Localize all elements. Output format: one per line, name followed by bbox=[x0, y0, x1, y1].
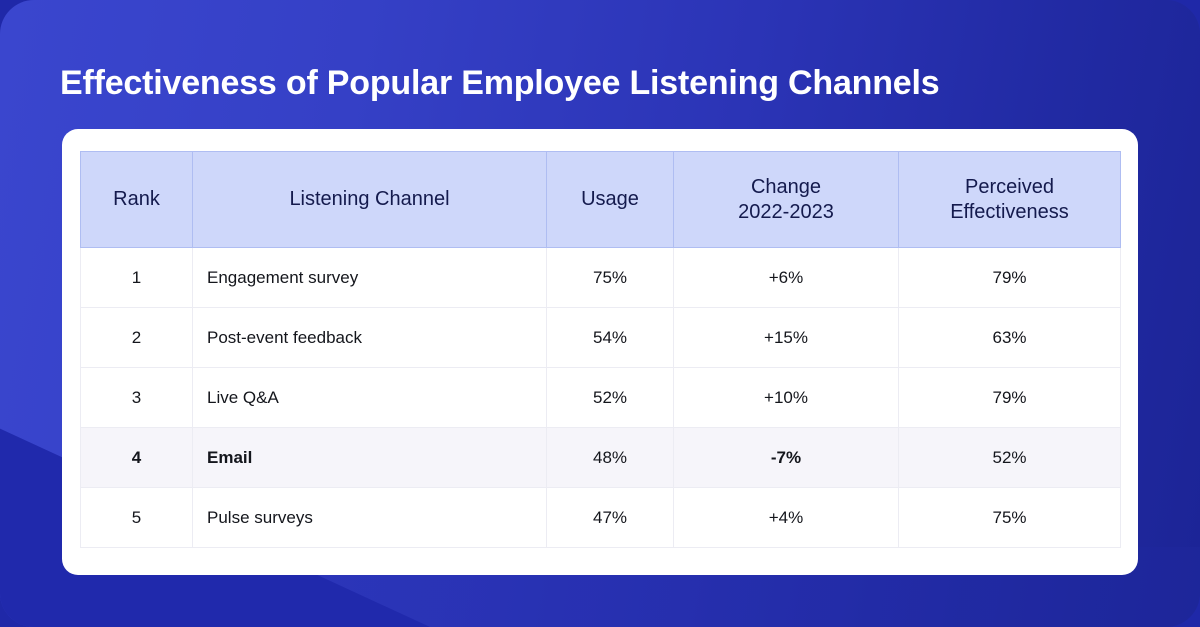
cell-rank: 4 bbox=[81, 428, 193, 488]
table-row: 4Email48%-7%52% bbox=[81, 428, 1121, 488]
page-title: Effectiveness of Popular Employee Listen… bbox=[60, 64, 939, 103]
cell-usage: 47% bbox=[547, 488, 674, 548]
cell-rank: 5 bbox=[81, 488, 193, 548]
cell-change: +15% bbox=[674, 308, 899, 368]
column-header-effectiveness-line2: Effectiveness bbox=[913, 200, 1106, 224]
cell-channel: Post-event feedback bbox=[193, 308, 547, 368]
cell-usage: 54% bbox=[547, 308, 674, 368]
cell-effectiveness: 63% bbox=[899, 308, 1121, 368]
cell-usage: 48% bbox=[547, 428, 674, 488]
cell-usage: 52% bbox=[547, 368, 674, 428]
table-header: Rank Listening Channel Usage Change 2022… bbox=[81, 152, 1121, 248]
table-row: 3Live Q&A52%+10%79% bbox=[81, 368, 1121, 428]
table-body: 1Engagement survey75%+6%79%2Post-event f… bbox=[81, 248, 1121, 548]
listening-channels-table: Rank Listening Channel Usage Change 2022… bbox=[80, 151, 1121, 548]
table-header-row: Rank Listening Channel Usage Change 2022… bbox=[81, 152, 1121, 248]
column-header-effectiveness: Perceived Effectiveness bbox=[899, 152, 1121, 248]
cell-change: +4% bbox=[674, 488, 899, 548]
table-row: 1Engagement survey75%+6%79% bbox=[81, 248, 1121, 308]
cell-effectiveness: 79% bbox=[899, 248, 1121, 308]
cell-channel: Engagement survey bbox=[193, 248, 547, 308]
cell-usage: 75% bbox=[547, 248, 674, 308]
column-header-usage: Usage bbox=[547, 152, 674, 248]
cell-channel: Pulse surveys bbox=[193, 488, 547, 548]
table-card: Rank Listening Channel Usage Change 2022… bbox=[62, 129, 1138, 575]
column-header-change: Change 2022-2023 bbox=[674, 152, 899, 248]
infographic-canvas: Effectiveness of Popular Employee Listen… bbox=[0, 0, 1200, 627]
cell-change: +6% bbox=[674, 248, 899, 308]
cell-effectiveness: 52% bbox=[899, 428, 1121, 488]
cell-effectiveness: 79% bbox=[899, 368, 1121, 428]
column-header-effectiveness-line1: Perceived bbox=[913, 175, 1106, 199]
column-header-change-line1: Change bbox=[688, 175, 884, 199]
cell-channel: Email bbox=[193, 428, 547, 488]
column-header-change-line2: 2022-2023 bbox=[688, 200, 884, 224]
cell-rank: 3 bbox=[81, 368, 193, 428]
cell-rank: 1 bbox=[81, 248, 193, 308]
table-row: 2Post-event feedback54%+15%63% bbox=[81, 308, 1121, 368]
cell-rank: 2 bbox=[81, 308, 193, 368]
column-header-channel: Listening Channel bbox=[193, 152, 547, 248]
cell-change: +10% bbox=[674, 368, 899, 428]
cell-channel: Live Q&A bbox=[193, 368, 547, 428]
table-row: 5Pulse surveys47%+4%75% bbox=[81, 488, 1121, 548]
cell-effectiveness: 75% bbox=[899, 488, 1121, 548]
cell-change: -7% bbox=[674, 428, 899, 488]
column-header-rank: Rank bbox=[81, 152, 193, 248]
